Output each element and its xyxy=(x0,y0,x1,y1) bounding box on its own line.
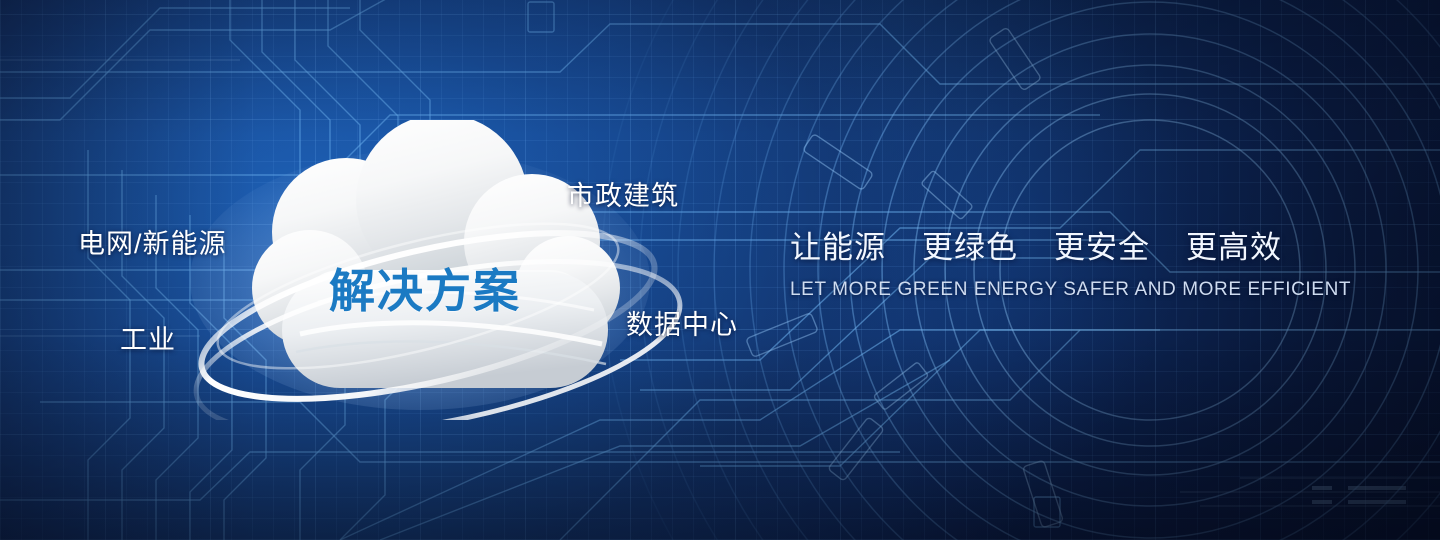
slogan-part-3: 更安全 xyxy=(1054,222,1150,267)
solution-banner: 电网/新能源 工业 市政建筑 数据中心 解决方案 让能源 更绿色 更安全 更高效… xyxy=(0,0,1440,540)
slogan-part-1: 让能源 xyxy=(790,222,886,267)
node-label-grid-new-energy: 电网/新能源 xyxy=(78,222,227,261)
node-label-data-center: 数据中心 xyxy=(626,303,738,342)
slogan-block: 让能源 更绿色 更安全 更高效 LET MORE GREEN ENERGY SA… xyxy=(790,222,1350,301)
node-label-industry: 工业 xyxy=(120,318,176,357)
slogan-part-2: 更绿色 xyxy=(922,222,1018,267)
node-label-municipal: 市政建筑 xyxy=(567,174,679,213)
slogan-chinese: 让能源 更绿色 更安全 更高效 xyxy=(790,222,1350,267)
slogan-part-4: 更高效 xyxy=(1186,222,1282,267)
cloud-title: 解决方案 xyxy=(329,255,521,321)
slogan-english: LET MORE GREEN ENERGY SAFER AND MORE EFF… xyxy=(790,279,1350,301)
